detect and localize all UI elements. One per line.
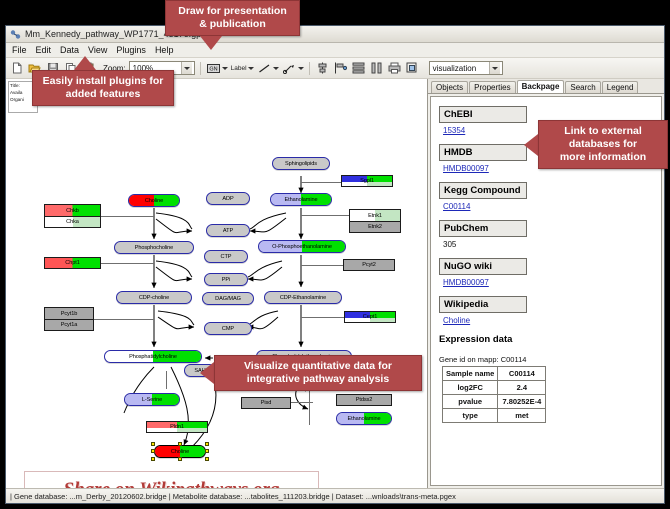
expression-data-header: Expression data <box>439 334 661 345</box>
pathway-canvas[interactable]: Title: Availa Organi <box>6 79 428 488</box>
gene-node-pisd[interactable]: Pisd <box>241 397 291 409</box>
node-label: Choline <box>145 198 163 204</box>
statusbar: | Gene database: ...m_Derby_20120602.bri… <box>6 488 664 503</box>
table-row: pvalue 7.80252E-4 <box>443 395 546 409</box>
callout-line: more information <box>547 151 659 164</box>
metabolite-node-ethanolamine[interactable]: Ethanolamine <box>270 193 332 206</box>
menu-item-edit[interactable]: Edit <box>36 45 52 55</box>
resize-handle-nw[interactable] <box>151 442 155 446</box>
database-header: NuGO wiki <box>439 258 527 275</box>
callout-line: Visualize quantitative data for <box>223 360 413 373</box>
callout-line: integrative pathway analysis <box>223 373 413 386</box>
gene-node-chpt1[interactable]: Chpt1 <box>44 257 101 269</box>
resize-handle-w[interactable] <box>151 449 155 453</box>
chevron-down-icon[interactable] <box>273 67 279 70</box>
callout-link-to-external-databases: Link to external databases for more info… <box>524 120 668 169</box>
node-label: Chpt1 <box>65 260 79 266</box>
node-label: Phosphatidylcholine <box>129 354 177 360</box>
leader-line <box>101 216 154 217</box>
database-header: PubChem <box>439 220 527 237</box>
database-link[interactable]: C00114 <box>443 202 661 211</box>
node-label: Pcyt2 <box>362 262 376 268</box>
callout-draw-for-publication: Draw for presentation & publication <box>165 0 300 50</box>
tab-backpage[interactable]: Backpage <box>517 80 565 93</box>
table-cell-key: Sample name <box>443 367 498 381</box>
visualization-combo[interactable]: visualization <box>429 61 503 75</box>
gene-node-pcyt1a[interactable]: Pcyt1a <box>44 319 94 331</box>
metabolite-node-adp[interactable]: ADP <box>206 192 250 205</box>
node-label: Choline <box>171 449 189 455</box>
leader-line <box>301 265 343 266</box>
metabolite-node-cmp[interactable]: CMP <box>204 322 252 335</box>
metabolite-node-cdp-ethanolamine[interactable]: CDP-Ethanolamine <box>264 291 342 304</box>
gene-node-ptdss2[interactable]: Ptdss2 <box>336 394 392 406</box>
metabolite-node-l-serine-left[interactable]: L-Serine <box>124 393 180 406</box>
database-link[interactable]: HMDB00097 <box>443 278 661 287</box>
leader-line <box>301 215 349 216</box>
label-tool-label: Label <box>231 65 247 72</box>
metabolite-node-phosphocholine[interactable]: Phosphocholine <box>114 241 194 254</box>
table-cell-key: type <box>443 409 498 423</box>
node-label: Sphingolipids <box>285 161 317 167</box>
interaction-tool[interactable] <box>282 61 304 76</box>
resize-handle-ne[interactable] <box>205 442 209 446</box>
table-cell-value: C00114 <box>498 367 546 381</box>
metabolite-node-sphingolipids[interactable]: Sphingolipids <box>272 157 330 170</box>
visualization-value: visualization <box>432 64 489 73</box>
database-header: ChEBI <box>439 106 527 123</box>
resize-handle-e[interactable] <box>205 449 209 453</box>
callout-line: Easily install plugins for <box>41 75 165 88</box>
database-section-pubchem: PubChem 305 <box>439 218 661 249</box>
callout-box: Draw for presentation & publication <box>165 0 300 36</box>
callout-line: & publication <box>174 18 291 31</box>
callout-line: Draw for presentation <box>174 5 291 18</box>
metabolite-node-ethanolamine-b[interactable]: Ethanolamine <box>336 412 392 425</box>
table-row: type met <box>443 409 546 423</box>
database-section-wikipedia: Wikipedia Choline <box>439 294 661 325</box>
database-value: 305 <box>443 240 661 249</box>
metabolite-node-cdp-choline[interactable]: CDP-choline <box>116 291 192 304</box>
same-width-icon[interactable] <box>369 61 384 76</box>
metabolite-node-phosphatidylcholine[interactable]: Phosphatidylcholine <box>104 350 202 363</box>
metabolite-node-choline[interactable]: Choline <box>128 194 180 207</box>
align-center-icon[interactable] <box>315 61 330 76</box>
metabolite-node-atp[interactable]: ATP <box>206 224 250 237</box>
menubar: File Edit Data View Plugins Help <box>6 43 664 58</box>
pathvisio-icon <box>10 29 21 40</box>
node-label: Pcyt1b <box>61 311 78 317</box>
metabolite-node-ppi[interactable]: PPi <box>204 273 248 286</box>
node-label: Chkb <box>66 208 79 214</box>
gene-node-pcyt1b[interactable]: Pcyt1b <box>44 307 94 319</box>
datanode-icon[interactable]: GN <box>206 61 221 76</box>
resize-handle-sw[interactable] <box>151 457 155 461</box>
distribute-icon[interactable] <box>351 61 366 76</box>
resize-handle-s[interactable] <box>178 457 182 461</box>
align-left-icon[interactable] <box>333 61 348 76</box>
database-header: Kegg Compound <box>439 182 527 199</box>
table-cell-value: 2.4 <box>498 381 546 395</box>
leader-line <box>301 317 344 318</box>
node-label: Cept1 <box>363 314 377 320</box>
database-section-nugo-wiki: NuGO wiki HMDB00097 <box>439 256 661 287</box>
node-label: Pcyt1a <box>61 322 78 328</box>
tab-search[interactable]: Search <box>565 81 600 93</box>
callout-box: Visualize quantitative data for integrat… <box>214 355 422 391</box>
database-header: HMDB <box>439 144 527 161</box>
resize-handle-n[interactable] <box>178 442 182 446</box>
metabolite-node-o-phosphoethanolamine[interactable]: O-Phosphoethanolamine <box>258 240 346 253</box>
callout-line: Link to external <box>547 125 659 138</box>
node-label: CDP-choline <box>139 295 169 301</box>
table-cell-key: log2FC <box>443 381 498 395</box>
table-cell-value: 7.80252E-4 <box>498 395 546 409</box>
callout-arrow-left-icon <box>200 362 214 384</box>
bring-front-icon[interactable] <box>405 61 420 76</box>
wikipathways-banner-text: Share on Wikipathways.org <box>64 479 280 488</box>
node-label: PPi <box>222 277 230 283</box>
callout-arrow-left-icon <box>524 134 538 156</box>
print-icon[interactable] <box>387 61 402 76</box>
table-cell-key: pvalue <box>443 395 498 409</box>
gene-id-line: Gene id on mapp: C00114 <box>439 355 661 364</box>
chevron-down-icon[interactable] <box>298 67 304 70</box>
chevron-down-icon[interactable] <box>248 67 254 70</box>
label-tool[interactable]: Label <box>231 65 254 72</box>
wikipathways-banner: Share on Wikipathways.org <box>24 471 319 488</box>
node-label: Ethanolamine <box>284 197 317 203</box>
datanode-tool[interactable]: GN <box>206 61 228 76</box>
node-label: Sgpl1 <box>360 178 374 184</box>
leader-line <box>94 319 154 320</box>
gene-node-etnk1[interactable]: Etnk1 <box>349 209 401 221</box>
node-label: CMP <box>222 326 234 332</box>
gene-node-chkb[interactable]: Chkb <box>44 204 101 216</box>
menu-item-view[interactable]: View <box>88 45 107 55</box>
node-label: DAG/MAG <box>215 296 241 302</box>
database-header: Wikipedia <box>439 296 527 313</box>
callout-arrow-up-icon <box>74 56 96 70</box>
callout-arrow-down-icon <box>200 36 222 50</box>
menu-item-data[interactable]: Data <box>60 45 79 55</box>
new-file-icon[interactable] <box>9 61 24 76</box>
table-row: Sample name C00114 <box>443 367 546 381</box>
node-label: ATP <box>223 228 233 234</box>
chevron-down-icon[interactable] <box>222 67 228 70</box>
line-icon[interactable] <box>257 61 272 76</box>
expression-table: Sample name C00114 log2FC 2.4 pvalue 7.8… <box>442 366 546 423</box>
callout-box: Easily install plugins for added feature… <box>32 70 174 106</box>
tab-properties[interactable]: Properties <box>469 81 515 93</box>
node-label: ADP <box>222 196 233 202</box>
leader-line <box>166 371 167 389</box>
callout-line: databases for <box>547 138 659 151</box>
resize-handle-se[interactable] <box>205 457 209 461</box>
gene-node-pldn1[interactable]: Pldn1 <box>146 421 208 433</box>
toolbar-separator <box>309 62 310 75</box>
gene-node-chka[interactable]: Chka <box>44 216 101 228</box>
tab-legend[interactable]: Legend <box>602 81 639 93</box>
window-titlebar: Mm_Kennedy_pathway_WP1771_45176.gpml <box>6 26 664 43</box>
node-label: Pisd <box>261 400 271 406</box>
leader-line <box>301 182 341 183</box>
node-label: O-Phosphoethanolamine <box>272 244 332 250</box>
node-label: Chka <box>66 219 79 225</box>
node-label: Ethanolamine <box>347 416 380 422</box>
chevron-down-icon[interactable] <box>181 62 192 74</box>
node-label: Etnk2 <box>368 224 382 230</box>
interaction-icon[interactable] <box>282 61 297 76</box>
metabolite-node-ctp[interactable]: CTP <box>204 250 248 263</box>
table-cell-value: met <box>498 409 546 423</box>
callout-box: Link to external databases for more info… <box>538 120 668 169</box>
gene-node-pcyt2[interactable]: Pcyt2 <box>343 259 395 271</box>
menu-item-plugins[interactable]: Plugins <box>116 45 146 55</box>
callout-easily-install-plugins: Easily install plugins for added feature… <box>32 70 174 106</box>
metabolite-node-dag-mag[interactable]: DAG/MAG <box>202 292 254 305</box>
table-row: log2FC 2.4 <box>443 381 546 395</box>
tab-objects[interactable]: Objects <box>431 81 468 93</box>
gene-node-etnk2[interactable]: Etnk2 <box>349 221 401 233</box>
callout-line: added features <box>41 88 165 101</box>
menu-item-file[interactable]: File <box>12 45 27 55</box>
sidebar-tabs: Objects Properties Backpage Search Legen… <box>428 79 664 94</box>
database-link[interactable]: Choline <box>443 316 661 325</box>
gene-node-sgpl1[interactable]: Sgpl1 <box>341 175 393 187</box>
line-tool[interactable] <box>257 61 279 76</box>
chevron-down-icon[interactable] <box>489 62 500 74</box>
statusbar-text: | Gene database: ...m_Derby_20120602.bri… <box>10 492 456 501</box>
leader-line <box>101 263 154 264</box>
database-section-kegg-compound: Kegg Compound C00114 <box>439 180 661 211</box>
node-label: Etnk1 <box>368 213 382 219</box>
callout-visualize-quantitative-data: Visualize quantitative data for integrat… <box>200 355 422 391</box>
node-label: CDP-Ethanolamine <box>280 295 326 301</box>
node-label: Ptdss2 <box>356 397 373 403</box>
node-label: Pldn1 <box>170 424 184 430</box>
node-label: CTP <box>221 254 232 260</box>
node-label: L-Serine <box>142 397 162 403</box>
gene-node-cept1[interactable]: Cept1 <box>344 311 396 323</box>
node-label: Phosphocholine <box>135 245 173 251</box>
toolbar-separator <box>200 62 201 75</box>
svg-text:GN: GN <box>209 66 217 72</box>
